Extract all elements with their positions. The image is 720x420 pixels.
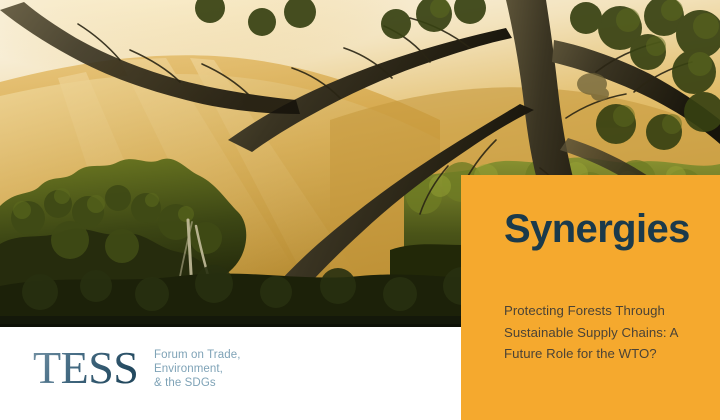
publication-subtitle: Protecting Forests Through Sustainable S… <box>504 300 699 365</box>
title-panel: Synergies Protecting Forests Through Sus… <box>461 175 720 420</box>
publication-title: Synergies <box>504 207 690 251</box>
publication-cover-slide: TESS Forum on Trade, Environment, & the … <box>0 0 720 420</box>
tess-logo[interactable]: TESS Forum on Trade, Environment, & the … <box>33 345 241 391</box>
svg-text:TESS: TESS <box>33 345 138 391</box>
tess-wordmark-icon: TESS <box>33 345 145 391</box>
tess-tagline: Forum on Trade, Environment, & the SDGs <box>154 346 241 391</box>
